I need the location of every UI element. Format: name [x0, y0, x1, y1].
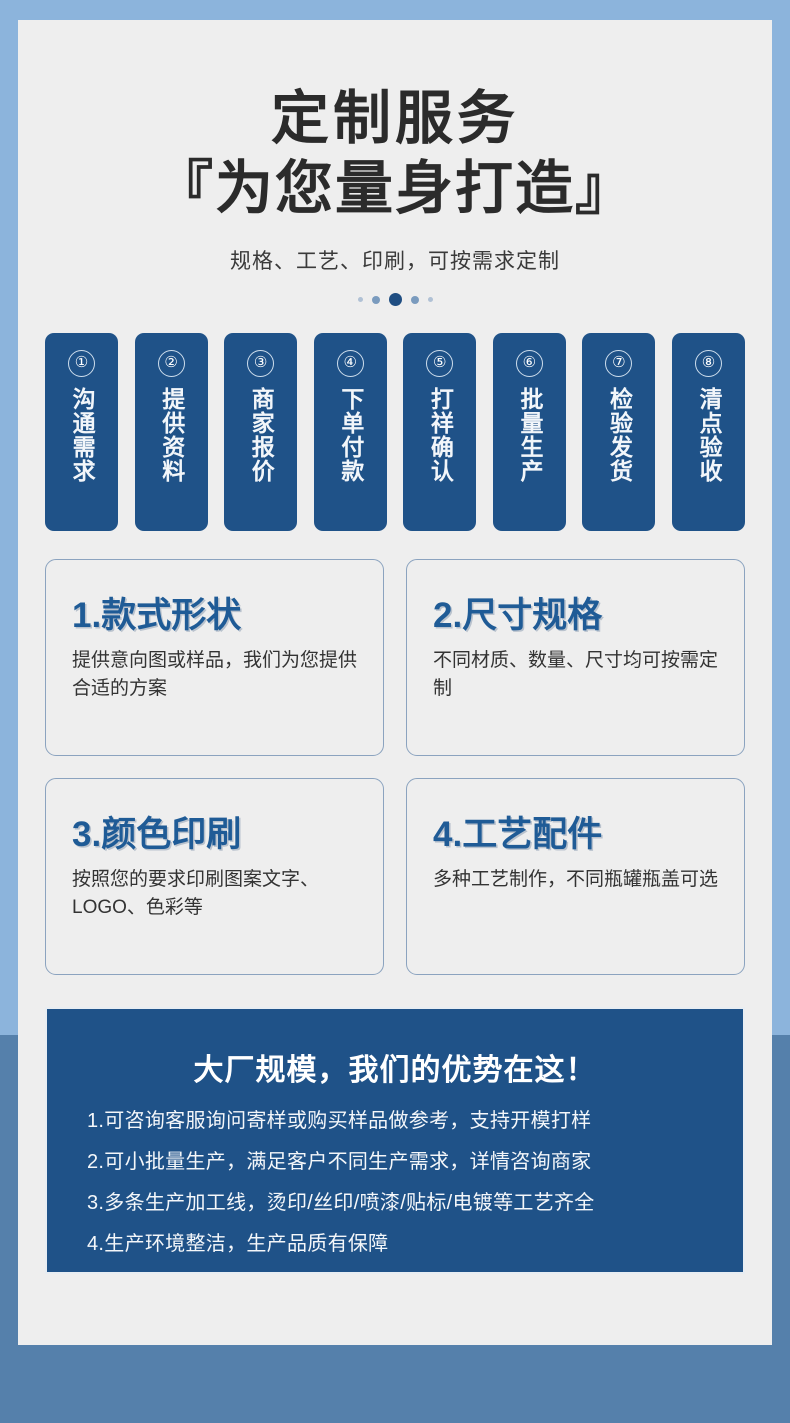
process-step-2[interactable]: ② 提供资料: [135, 333, 208, 531]
step-number-badge: ④: [337, 350, 364, 377]
page-subtitle: 规格、工艺、印刷，可按需求定制: [18, 245, 772, 275]
step-label: 清点验收: [696, 387, 721, 483]
advantages-title: 大厂规模，我们的优势在这！: [47, 1045, 743, 1089]
step-number-badge: ⑧: [695, 350, 722, 377]
feature-cards: 1.款式形状 提供意向图或样品，我们为您提供合适的方案 2.尺寸规格 不同材质、…: [45, 559, 745, 975]
process-step-1[interactable]: ① 沟通需求: [45, 333, 118, 531]
step-label: 打祥确认: [427, 387, 452, 483]
feature-card-3[interactable]: 3.颜色印刷 按照您的要求印刷图案文字、LOGO、色彩等: [45, 778, 384, 975]
carousel-dot[interactable]: [428, 297, 433, 302]
step-number-badge: ⑥: [516, 350, 543, 377]
product-detail-page: 定制服务 『为您量身打造』 规格、工艺、印刷，可按需求定制 ① 沟通需求 ② 提…: [18, 20, 772, 1345]
step-number-badge: ⑦: [605, 350, 632, 377]
step-number-badge: ②: [158, 350, 185, 377]
step-number-badge: ①: [68, 350, 95, 377]
step-number-badge: ⑤: [426, 350, 453, 377]
feature-card-title: 1.款式形状: [72, 598, 383, 633]
process-step-4[interactable]: ④ 下单付款: [314, 333, 387, 531]
process-step-5[interactable]: ⑤ 打祥确认: [403, 333, 476, 531]
feature-card-4[interactable]: 4.工艺配件 多种工艺制作，不同瓶罐瓶盖可选: [406, 778, 745, 975]
outer-right-band: [772, 1035, 790, 1345]
feature-card-description: 按照您的要求印刷图案文字、LOGO、色彩等: [72, 866, 372, 922]
step-label: 下单付款: [338, 387, 363, 483]
advantage-item: 1.可咨询客服询问寄样或购买样品做参考，支持开模打样: [87, 1111, 743, 1131]
process-steps: ① 沟通需求 ② 提供资料 ③ 商家报价 ④ 下单付款 ⑤ 打祥确认 ⑥ 批量生…: [45, 333, 745, 531]
step-label: 提供资料: [158, 387, 183, 483]
step-number-badge: ③: [247, 350, 274, 377]
step-label: 沟通需求: [69, 387, 94, 483]
feature-card-description: 多种工艺制作，不同瓶罐瓶盖可选: [433, 866, 733, 894]
feature-card-2[interactable]: 2.尺寸规格 不同材质、数量、尺寸均可按需定制: [406, 559, 745, 756]
step-label: 检验发货: [606, 387, 631, 483]
process-step-6[interactable]: ⑥ 批量生产: [493, 333, 566, 531]
outer-bottom-band: [0, 1345, 790, 1423]
page-header: 定制服务 『为您量身打造』 规格、工艺、印刷，可按需求定制: [18, 20, 772, 307]
process-step-8[interactable]: ⑧ 清点验收: [672, 333, 745, 531]
feature-card-title: 3.颜色印刷: [72, 817, 383, 852]
carousel-dot-active[interactable]: [389, 293, 402, 306]
feature-card-1[interactable]: 1.款式形状 提供意向图或样品，我们为您提供合适的方案: [45, 559, 384, 756]
feature-card-description: 提供意向图或样品，我们为您提供合适的方案: [72, 647, 372, 703]
feature-card-title: 4.工艺配件: [433, 817, 744, 852]
feature-card-title: 2.尺寸规格: [433, 598, 744, 633]
advantage-item: 2.可小批量生产，满足客户不同生产需求，详情咨询商家: [87, 1152, 743, 1172]
page-title-primary: 定制服务: [18, 90, 772, 148]
step-label: 批量生产: [517, 387, 542, 483]
advantage-item: 4.生产环境整洁，生产品质有保障: [87, 1234, 743, 1254]
step-label: 商家报价: [248, 387, 273, 483]
advantages-list: 1.可咨询客服询问寄样或购买样品做参考，支持开模打样 2.可小批量生产，满足客户…: [87, 1111, 743, 1254]
process-step-7[interactable]: ⑦ 检验发货: [582, 333, 655, 531]
page-title-secondary: 『为您量身打造』: [18, 154, 772, 225]
carousel-dot[interactable]: [358, 297, 363, 302]
outer-left-band: [0, 1035, 18, 1345]
process-step-3[interactable]: ③ 商家报价: [224, 333, 297, 531]
carousel-dots[interactable]: [18, 293, 772, 307]
advantages-panel: 大厂规模，我们的优势在这！ 1.可咨询客服询问寄样或购买样品做参考，支持开模打样…: [45, 1007, 745, 1274]
carousel-dot[interactable]: [411, 296, 419, 304]
advantage-item: 3.多条生产加工线，烫印/丝印/喷漆/贴标/电镀等工艺齐全: [87, 1193, 743, 1213]
feature-card-description: 不同材质、数量、尺寸均可按需定制: [433, 647, 733, 703]
carousel-dot[interactable]: [372, 296, 380, 304]
